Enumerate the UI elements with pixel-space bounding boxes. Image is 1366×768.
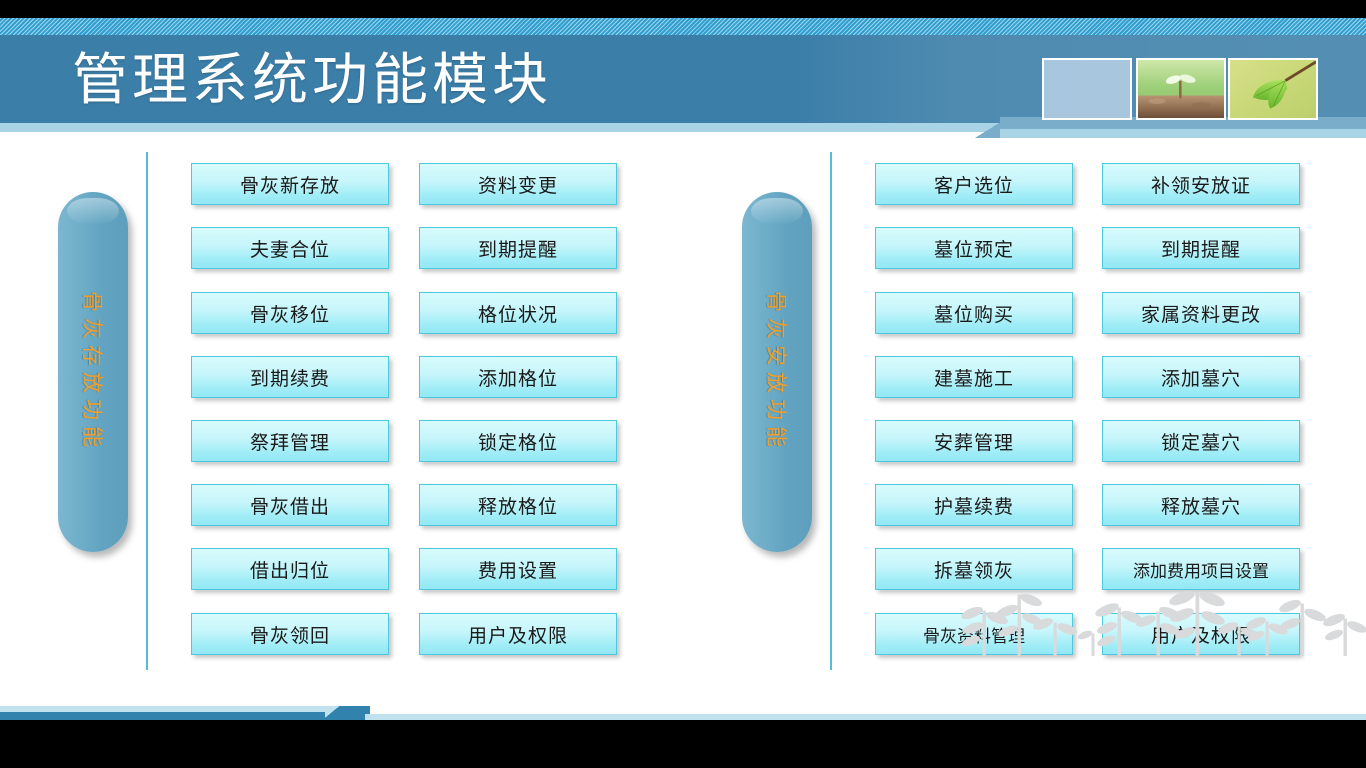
header-underline	[0, 123, 1000, 132]
function-button[interactable]: 费用设置	[419, 548, 617, 590]
function-button[interactable]: 骨灰领回	[191, 613, 389, 655]
green-leaves-thumbnail	[1228, 58, 1318, 120]
function-button[interactable]: 建墓施工	[875, 356, 1073, 398]
function-button[interactable]: 释放格位	[419, 484, 617, 526]
letterbox-top	[0, 0, 1366, 18]
header-stripe-band	[0, 18, 1366, 35]
function-button[interactable]: 借出归位	[191, 548, 389, 590]
function-button[interactable]: 骨灰借出	[191, 484, 389, 526]
section-pill-storage: 骨灰存放功能	[58, 192, 128, 552]
function-button[interactable]: 到期提醒	[1102, 227, 1300, 269]
function-button[interactable]: 安葬管理	[875, 420, 1073, 462]
blank-placeholder-thumbnail	[1042, 58, 1132, 120]
function-button[interactable]: 资料变更	[419, 163, 617, 205]
plant-sprouts-silhouette	[946, 586, 1366, 656]
function-button[interactable]: 锁定墓穴	[1102, 420, 1300, 462]
section-pill-placement-label: 骨灰安放功能	[762, 291, 792, 453]
function-button[interactable]: 墓位购买	[875, 292, 1073, 334]
function-button[interactable]: 添加费用项目设置	[1102, 548, 1300, 590]
sprout-in-soil-icon	[1138, 60, 1224, 118]
page-title: 管理系统功能模块	[72, 48, 552, 114]
section-divider-right	[830, 152, 832, 670]
section-pill-placement: 骨灰安放功能	[742, 192, 812, 552]
function-button[interactable]: 骨灰新存放	[191, 163, 389, 205]
function-button[interactable]: 补领安放证	[1102, 163, 1300, 205]
function-button[interactable]: 到期提醒	[419, 227, 617, 269]
function-button[interactable]: 家属资料更改	[1102, 292, 1300, 334]
function-button[interactable]: 祭拜管理	[191, 420, 389, 462]
function-button[interactable]: 护墓续费	[875, 484, 1073, 526]
header-step-light	[1000, 129, 1366, 138]
green-leaves-icon	[1230, 60, 1316, 118]
function-button[interactable]: 锁定格位	[419, 420, 617, 462]
function-button[interactable]: 夫妻合位	[191, 227, 389, 269]
letterbox-bottom	[0, 720, 1366, 768]
slide-canvas: 管理系统功能模块	[0, 0, 1366, 768]
function-button[interactable]: 拆墓领灰	[875, 548, 1073, 590]
function-button[interactable]: 客户选位	[875, 163, 1073, 205]
function-button[interactable]: 释放墓穴	[1102, 484, 1300, 526]
function-button[interactable]: 用户及权限	[419, 613, 617, 655]
sprout-in-soil-thumbnail	[1136, 58, 1226, 120]
function-button[interactable]: 骨灰移位	[191, 292, 389, 334]
function-button[interactable]: 添加墓穴	[1102, 356, 1300, 398]
plant-sprouts-icon	[946, 586, 1366, 656]
section-divider-left	[146, 152, 148, 670]
function-button[interactable]: 添加格位	[419, 356, 617, 398]
section-pill-storage-label: 骨灰存放功能	[78, 291, 108, 453]
function-button[interactable]: 格位状况	[419, 292, 617, 334]
function-button[interactable]: 到期续费	[191, 356, 389, 398]
function-button[interactable]: 墓位预定	[875, 227, 1073, 269]
